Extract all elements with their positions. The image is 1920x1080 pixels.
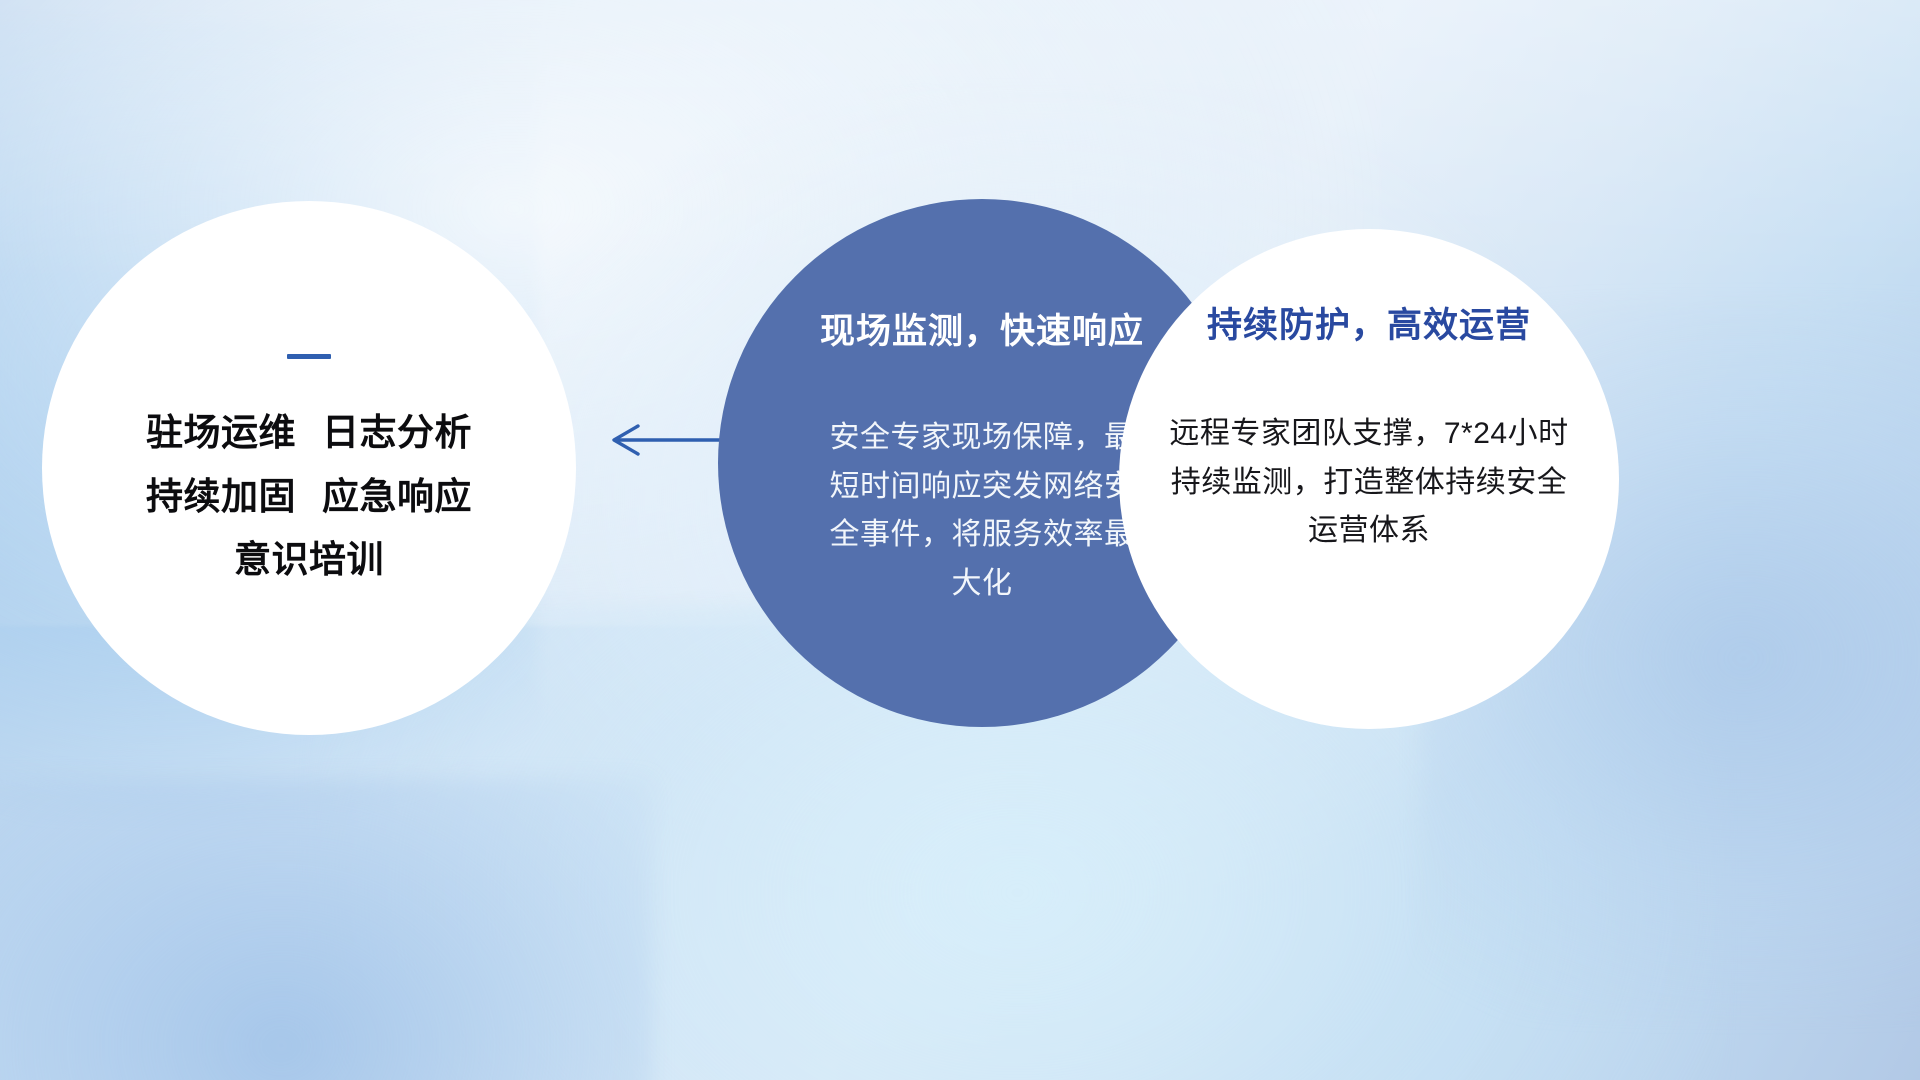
left-keyword-list: 驻场运维日志分析 持续加固应急响应 意识培训: [146, 411, 472, 582]
middle-circle-title: 现场监测，快速响应: [820, 303, 1144, 354]
list-item: 持续加固应急响应: [146, 475, 472, 519]
keyword-label: 应急响应: [322, 476, 472, 517]
keyword-label: 驻场运维: [146, 412, 296, 453]
list-item: 驻场运维日志分析: [146, 411, 472, 455]
keyword-label: 日志分析: [322, 412, 472, 453]
right-circle-body: 远程专家团队支撑，7*24小时持续监测，打造整体持续安全运营体系: [1164, 410, 1574, 556]
left-service-circle[interactable]: 驻场运维日志分析 持续加固应急响应 意识培训: [42, 201, 576, 735]
keyword-label: 持续加固: [146, 476, 296, 517]
background-glow-bottom-left: [0, 778, 653, 1080]
title-divider-dash: [287, 354, 331, 359]
slide-canvas: 驻场运维日志分析 持续加固应急响应 意识培训 现场监测，快速响应 安全专家现场保…: [0, 0, 1920, 1080]
list-item: 意识培训: [234, 538, 384, 582]
right-circle-title: 持续防护，高效运营: [1207, 297, 1531, 348]
middle-circle-body: 安全专家现场保障，最短时间响应突发网络安全事件，将服务效率最大化: [822, 414, 1142, 608]
right-operations-circle[interactable]: 持续防护，高效运营 远程专家团队支撑，7*24小时持续监测，打造整体持续安全运营…: [1119, 229, 1619, 729]
